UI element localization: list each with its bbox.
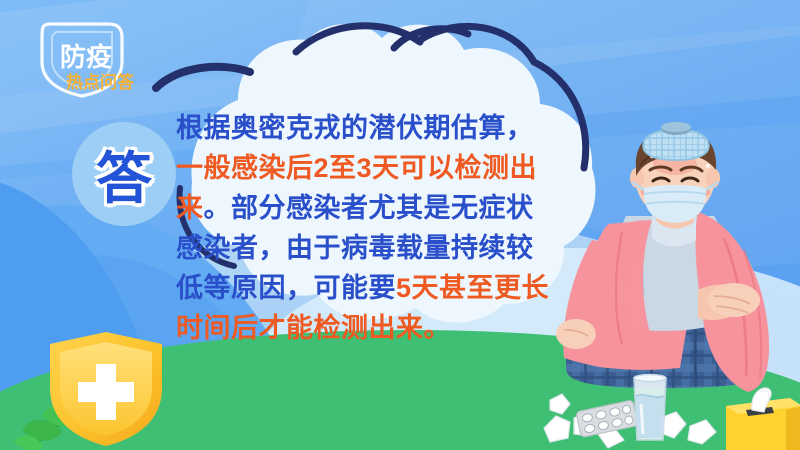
answer-badge-label: 答	[72, 122, 176, 226]
answer-segment: 。部分感染者尤其是无症状	[204, 193, 534, 223]
answer-line-5: 低等原因，可能要5天甚至更长	[176, 268, 576, 308]
answer-segment: 来	[176, 193, 204, 223]
poster-canvas: 答 根据奥密克戎的潜伏期估算， 一般感染后2至3天可以检测出 来。部分感染者尤其…	[0, 0, 800, 450]
medical-shield-icon	[42, 330, 170, 448]
logo-title: 防疫	[60, 42, 112, 72]
answer-segment: 一般感染后2至3天可以检测出	[176, 153, 537, 183]
answer-line-1: 根据奥密克戎的潜伏期估算，	[176, 108, 576, 148]
answer-line-3: 来。部分感染者尤其是无症状	[176, 188, 576, 228]
logo-subtitle: 热点问答	[66, 72, 135, 92]
answer-segment: 时间后才能检测出来。	[176, 313, 451, 343]
answer-segment: 5天甚至更长	[396, 273, 549, 303]
program-logo: 防疫 热点问答	[16, 18, 146, 98]
answer-segment: 低等原因，可能要	[176, 273, 396, 303]
answer-segment: 感染者，由于病毒载量持续较	[176, 233, 534, 263]
decorative-swoosh	[150, 52, 270, 102]
answer-line-6: 时间后才能检测出来。	[176, 308, 576, 348]
decorative-swoosh	[388, 18, 478, 62]
bedside-items	[540, 360, 800, 450]
answer-line-2: 一般感染后2至3天可以检测出	[176, 148, 576, 188]
answer-segment: 根据奥密克戎的潜伏期估算，	[176, 113, 534, 143]
answer-text-block: 根据奥密克戎的潜伏期估算， 一般感染后2至3天可以检测出 来。部分感染者尤其是无…	[176, 108, 576, 348]
answer-line-4: 感染者，由于病毒载量持续较	[176, 228, 576, 268]
